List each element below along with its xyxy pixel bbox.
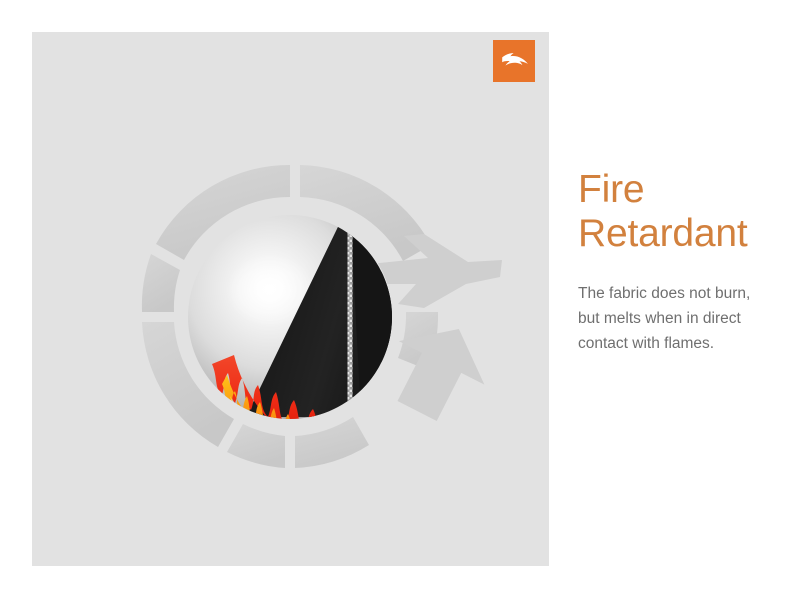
swift-bird-icon <box>502 53 528 66</box>
fire-retardant-fabric-icon <box>32 132 549 502</box>
ring-arrow-head <box>374 307 501 433</box>
page-title: Fire Retardant <box>578 168 788 257</box>
slide-root: Fire Retardant The fabric does not burn,… <box>0 0 800 600</box>
artwork-panel <box>32 32 549 566</box>
zipper-strip <box>348 204 353 417</box>
text-column: Fire Retardant The fabric does not burn,… <box>578 168 788 356</box>
body-copy: The fabric does not burn, but melts when… <box>578 257 788 356</box>
swift-bird-logo[interactable] <box>493 40 535 82</box>
